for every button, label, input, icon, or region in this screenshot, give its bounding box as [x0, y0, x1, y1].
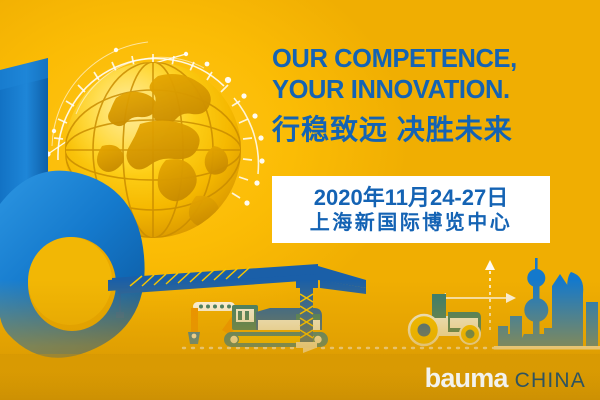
event-date: 2020年11月24-27日	[314, 185, 508, 210]
bauma-china-logo: bauma CHINA	[425, 365, 586, 392]
headline-line-2: YOUR INNOVATION.	[272, 75, 592, 106]
road-roller-icon	[409, 294, 481, 345]
shanghai-skyline-icon	[498, 258, 598, 346]
skyline-baseline	[494, 346, 600, 350]
headline-block: OUR COMPETENCE, YOUR INNOVATION. 行稳致远 决胜…	[272, 44, 592, 150]
event-venue: 上海新国际博览中心	[310, 211, 513, 235]
logo-brand-text: bauma	[425, 365, 508, 392]
headline-chinese: 行稳致远 决胜未来	[272, 110, 592, 150]
logo-region-text: CHINA	[515, 370, 586, 391]
event-date-box: 2020年11月24-27日 上海新国际博览中心	[272, 176, 550, 243]
poster-canvas: OUR COMPETENCE, YOUR INNOVATION. 行稳致远 决胜…	[0, 0, 600, 400]
machinery-scene	[0, 250, 600, 365]
headline-line-1: OUR COMPETENCE,	[272, 44, 592, 75]
